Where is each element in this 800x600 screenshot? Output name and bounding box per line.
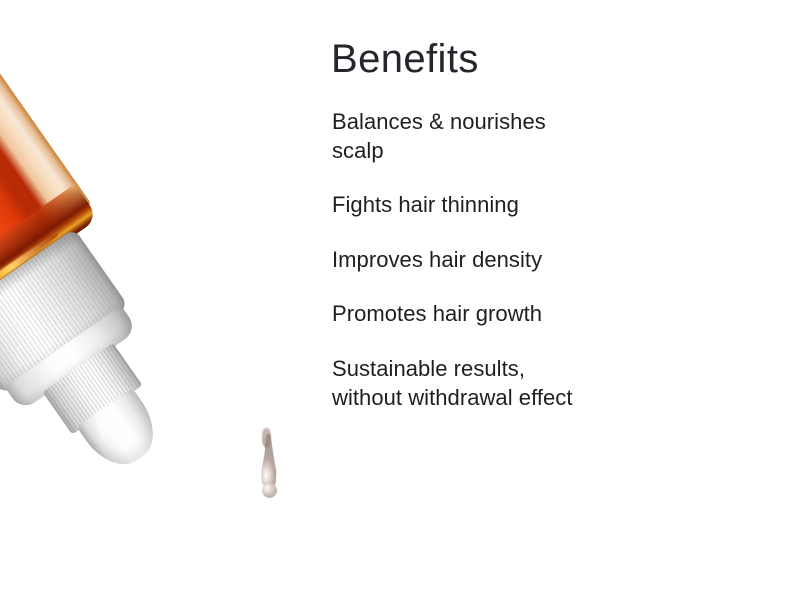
benefits-panel: Benefits Balances & nourishes scalp Figh… bbox=[331, 0, 791, 600]
benefit-item: Sustainable results, without withdrawal … bbox=[332, 355, 600, 412]
benefits-heading: Benefits bbox=[331, 39, 479, 79]
bottle-assembly: SCALPHYDROIL RootDeep bbox=[0, 0, 226, 516]
product-benefits-graphic: SCALPHYDROIL RootDeep Benefits Balances … bbox=[0, 0, 800, 600]
benefits-list: Balances & nourishes scalp Fights hair t… bbox=[332, 108, 632, 412]
benefit-item: Improves hair density bbox=[332, 246, 600, 275]
benefit-item: Balances & nourishes scalp bbox=[332, 108, 600, 165]
benefit-item: Fights hair thinning bbox=[332, 191, 600, 220]
benefit-item: Promotes hair growth bbox=[332, 300, 600, 329]
oil-droplet-bead bbox=[262, 483, 277, 498]
product-image: SCALPHYDROIL RootDeep bbox=[0, 0, 330, 600]
